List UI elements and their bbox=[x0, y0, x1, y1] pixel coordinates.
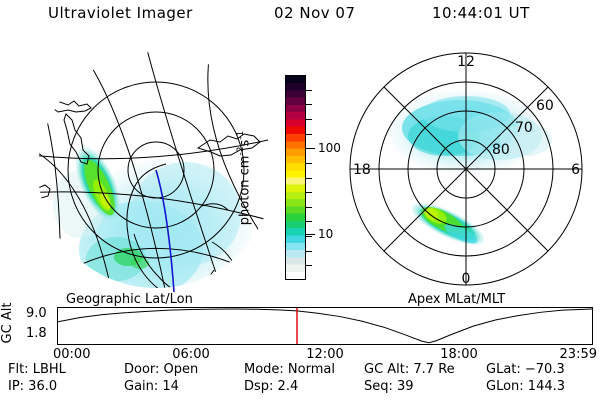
orbit-altitude-curve bbox=[58, 308, 592, 344]
orbit-x-tick-3: 18:00 bbox=[440, 347, 477, 362]
geographic-map-svg bbox=[16, 44, 268, 294]
colorbar-minor-tick bbox=[306, 221, 312, 222]
uvi-screenshot: Ultraviolet Imager 02 Nov 07 10:44:01 UT bbox=[0, 0, 600, 400]
colorbar-major-tick bbox=[306, 234, 315, 235]
colorbar-minor-tick bbox=[306, 265, 312, 266]
status-glat: GLat: −70.3 bbox=[486, 362, 565, 377]
apex-panel-title: Apex MLat/MLT bbox=[408, 292, 505, 307]
apex-emission-layer bbox=[388, 90, 552, 253]
orbit-x-tick-2: 12:00 bbox=[306, 347, 343, 362]
colorbar[interactable]: photon cm-2s-1 10010 bbox=[262, 60, 340, 295]
colorbar-tick-label-0: 100 bbox=[318, 143, 341, 153]
orbit-y-axis-label: GC Alt bbox=[0, 293, 15, 353]
status-seq: Seq: 39 bbox=[364, 379, 414, 394]
mlt-label-18: 18 bbox=[353, 162, 371, 178]
orbit-y-tick-top: 9.0 bbox=[26, 306, 47, 321]
colorbar-minor-tick bbox=[306, 104, 312, 105]
mlt-dial-grid bbox=[350, 53, 582, 285]
colorbar-minor-tick bbox=[306, 207, 312, 208]
status-glon: GLon: 144.3 bbox=[486, 379, 565, 394]
status-gain: Gain: 14 bbox=[124, 379, 179, 394]
mlat-label-70: 70 bbox=[515, 120, 533, 136]
colorbar-major-tick bbox=[306, 148, 315, 149]
colorbar-minor-tick bbox=[306, 90, 312, 91]
status-filter: Flt: LBHL bbox=[8, 362, 66, 377]
status-dsp: Dsp: 2.4 bbox=[244, 379, 298, 394]
orbit-x-tick-1: 06:00 bbox=[172, 347, 209, 362]
mlt-label-0: 0 bbox=[462, 271, 471, 287]
altitude-curve bbox=[58, 309, 592, 343]
geographic-emission-layer bbox=[53, 141, 252, 294]
orbit-x-tick-0: 00:00 bbox=[53, 347, 90, 362]
geographic-panel-title: Geographic Lat/Lon bbox=[66, 292, 193, 307]
colorbar-ticks: 10010 bbox=[306, 75, 340, 280]
status-ip: IP: 36.0 bbox=[8, 379, 57, 394]
colorbar-minor-tick bbox=[306, 236, 312, 237]
mlat-label-60: 60 bbox=[536, 98, 554, 114]
status-gc-alt: GC Alt: 7.7 Re bbox=[364, 362, 455, 377]
colorbar-minor-tick bbox=[306, 251, 312, 252]
header-bar: Ultraviolet Imager 02 Nov 07 10:44:01 UT bbox=[0, 4, 600, 30]
apex-mlt-svg: 12 18 6 0 60 70 80 bbox=[340, 44, 592, 294]
apex-mlt-panel[interactable]: 12 18 6 0 60 70 80 bbox=[340, 44, 592, 294]
status-door: Door: Open bbox=[124, 362, 198, 377]
colorbar-minor-tick bbox=[306, 134, 312, 135]
mlat-label-80: 80 bbox=[492, 142, 510, 158]
observation-date: 02 Nov 07 bbox=[274, 4, 356, 22]
colorbar-swatch bbox=[285, 75, 306, 280]
geographic-map-panel[interactable] bbox=[16, 44, 268, 294]
orbit-altitude-strip[interactable]: Geographic Lat/Lon Apex MLat/MLT GC Alt … bbox=[0, 292, 600, 354]
instrument-title: Ultraviolet Imager bbox=[48, 4, 193, 22]
colorbar-minor-tick bbox=[306, 163, 312, 164]
colorbar-tick-label-1: 10 bbox=[318, 229, 333, 239]
orbit-plot-area[interactable] bbox=[57, 307, 593, 345]
status-mode: Mode: Normal bbox=[244, 362, 335, 377]
status-footer: Flt: LBHL IP: 36.0 Door: Open Gain: 14 M… bbox=[0, 362, 600, 398]
mlt-label-12: 12 bbox=[457, 54, 475, 70]
colorbar-minor-tick bbox=[306, 192, 312, 193]
mlt-label-6: 6 bbox=[571, 162, 580, 178]
colorbar-axis-label: photon cm-2s-1 bbox=[236, 108, 252, 248]
observation-time: 10:44:01 UT bbox=[432, 4, 530, 22]
orbit-x-tick-4: 23:59 bbox=[560, 347, 597, 362]
orbit-y-tick-bottom: 1.8 bbox=[26, 326, 47, 341]
colorbar-minor-tick bbox=[306, 119, 312, 120]
colorbar-minor-tick bbox=[306, 178, 312, 179]
